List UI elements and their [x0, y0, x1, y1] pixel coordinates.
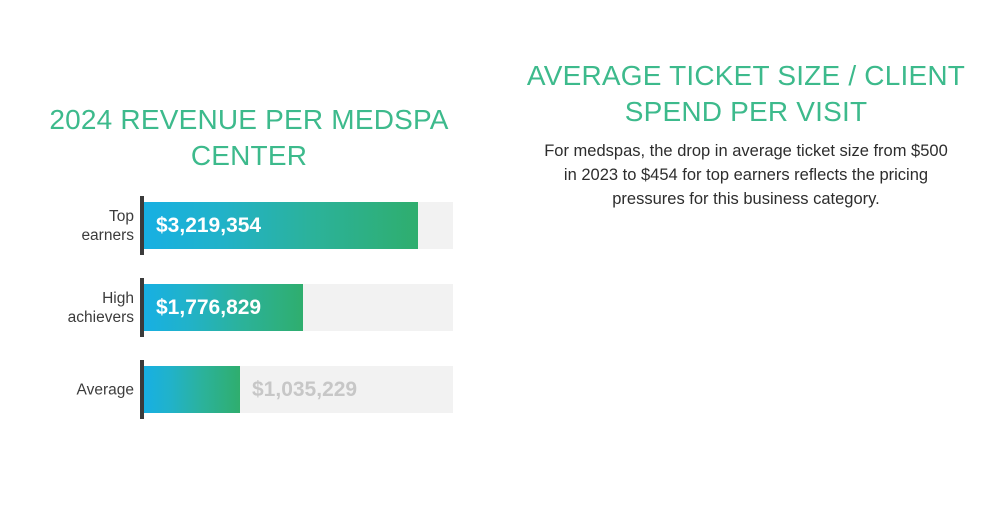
bar-row: Top earners $3,219,354: [0, 196, 497, 256]
bar-value-label: $1,776,829: [156, 296, 261, 320]
bar-category-label: High achievers: [48, 289, 134, 327]
bar-value-label: $1,035,229: [252, 378, 357, 402]
bar-fill: [144, 366, 240, 413]
bar-track: $3,219,354: [144, 202, 453, 249]
bar-row: Average $1,035,229: [0, 360, 497, 420]
bar-category-label: Average: [48, 380, 134, 399]
bar-track: $1,776,829: [144, 284, 453, 331]
page-title-revenue: 2024 Revenue per Medspa Center: [25, 102, 473, 174]
bar-row: High achievers $323: [497, 314, 994, 374]
bar-track: $1,035,229: [144, 366, 453, 413]
bar-row: High achievers $1,776,829: [0, 278, 497, 338]
bar-chart-ticket-size: Top earners $454 High achievers $323 Ave…: [497, 232, 994, 478]
infographic-root: 2024 Revenue per Medspa Center Top earne…: [0, 0, 994, 508]
bar-value-label: $3,219,354: [156, 214, 261, 238]
bar-row: Average $164: [497, 396, 994, 456]
bar-row: Top earners $454: [497, 232, 994, 292]
chart-description: For medspas, the drop in average ticket …: [542, 139, 950, 212]
bar-category-label: Top earners: [48, 207, 134, 245]
chart-panel-ticket-size: Average Ticket Size / Client Spend per V…: [497, 0, 994, 508]
bar-chart-revenue: Top earners $3,219,354 High achievers $1…: [0, 196, 497, 442]
chart-panel-revenue: 2024 Revenue per Medspa Center Top earne…: [0, 0, 497, 508]
page-title-ticket-size: Average Ticket Size / Client Spend per V…: [522, 58, 970, 130]
